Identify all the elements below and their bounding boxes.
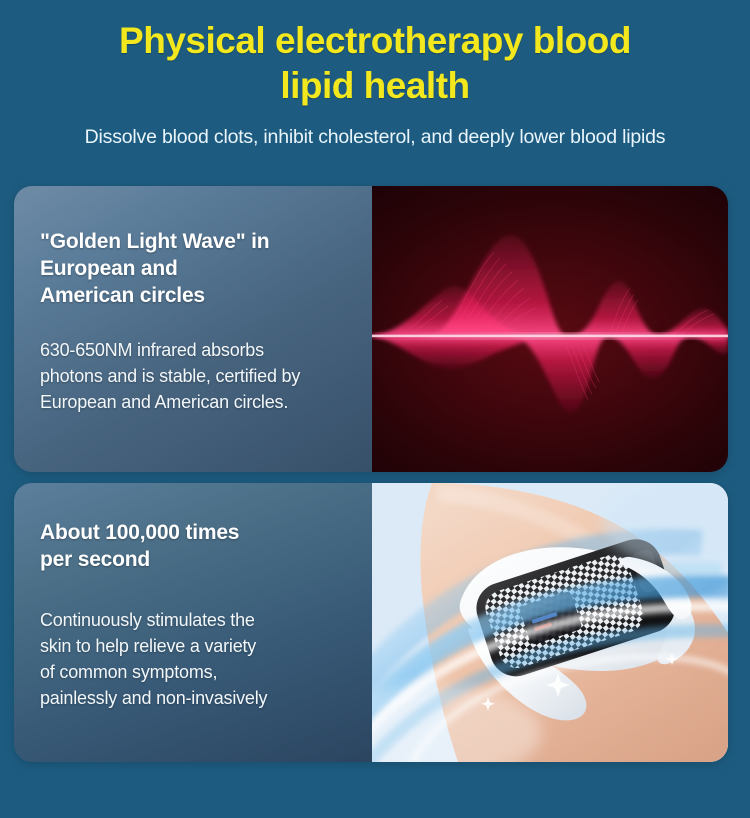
page-title-line-1: Physical electrotherapy blood	[119, 20, 631, 61]
heading-line-1: "Golden Light Wave" in	[40, 230, 269, 253]
feature-card-golden-light-wave: "Golden Light Wave" in European and Amer…	[14, 186, 728, 472]
feature-card-text-panel: "Golden Light Wave" in European and Amer…	[14, 186, 372, 472]
feature-card-text-panel: About 100,000 times per second Continuou…	[14, 483, 372, 762]
page-title: Physical electrotherapy blood lipid heal…	[0, 18, 750, 108]
feature-card-body: Continuously stimulates the skin to help…	[40, 607, 348, 711]
body-line-3: of common symptoms,	[40, 662, 217, 682]
body-line-2: skin to help relieve a variety	[40, 636, 256, 656]
heading-line-2: per second	[40, 548, 150, 571]
promo-page: Physical electrotherapy blood lipid heal…	[0, 0, 750, 818]
body-line-2: photons and is stable, certified by	[40, 366, 300, 386]
feature-card-stimulation-rate: About 100,000 times per second Continuou…	[14, 483, 728, 762]
wrist-device-graphic	[372, 483, 728, 762]
heading-line-1: About 100,000 times	[40, 521, 239, 544]
body-line-4: painlessly and non-invasively	[40, 688, 267, 708]
feature-card-body: 630-650NM infrared absorbs photons and i…	[40, 337, 348, 415]
feature-card-media	[372, 186, 728, 472]
heading-line-3: American circles	[40, 284, 205, 307]
body-line-1: Continuously stimulates the	[40, 610, 255, 630]
header: Physical electrotherapy blood lipid heal…	[0, 0, 750, 149]
heading-line-2: European and	[40, 257, 178, 280]
page-title-line-2: lipid health	[280, 65, 469, 106]
feature-card-heading: "Golden Light Wave" in European and Amer…	[40, 228, 348, 309]
body-line-1: 630-650NM infrared absorbs	[40, 340, 264, 360]
feature-card-media	[372, 483, 728, 762]
wrist-device-photo	[372, 483, 728, 762]
waveform-graphic	[372, 186, 728, 472]
page-subtitle: Dissolve blood clots, inhibit cholestero…	[0, 125, 750, 149]
feature-card-heading: About 100,000 times per second	[40, 519, 348, 573]
red-waveform-image	[372, 186, 728, 472]
body-line-3: European and American circles.	[40, 392, 288, 412]
